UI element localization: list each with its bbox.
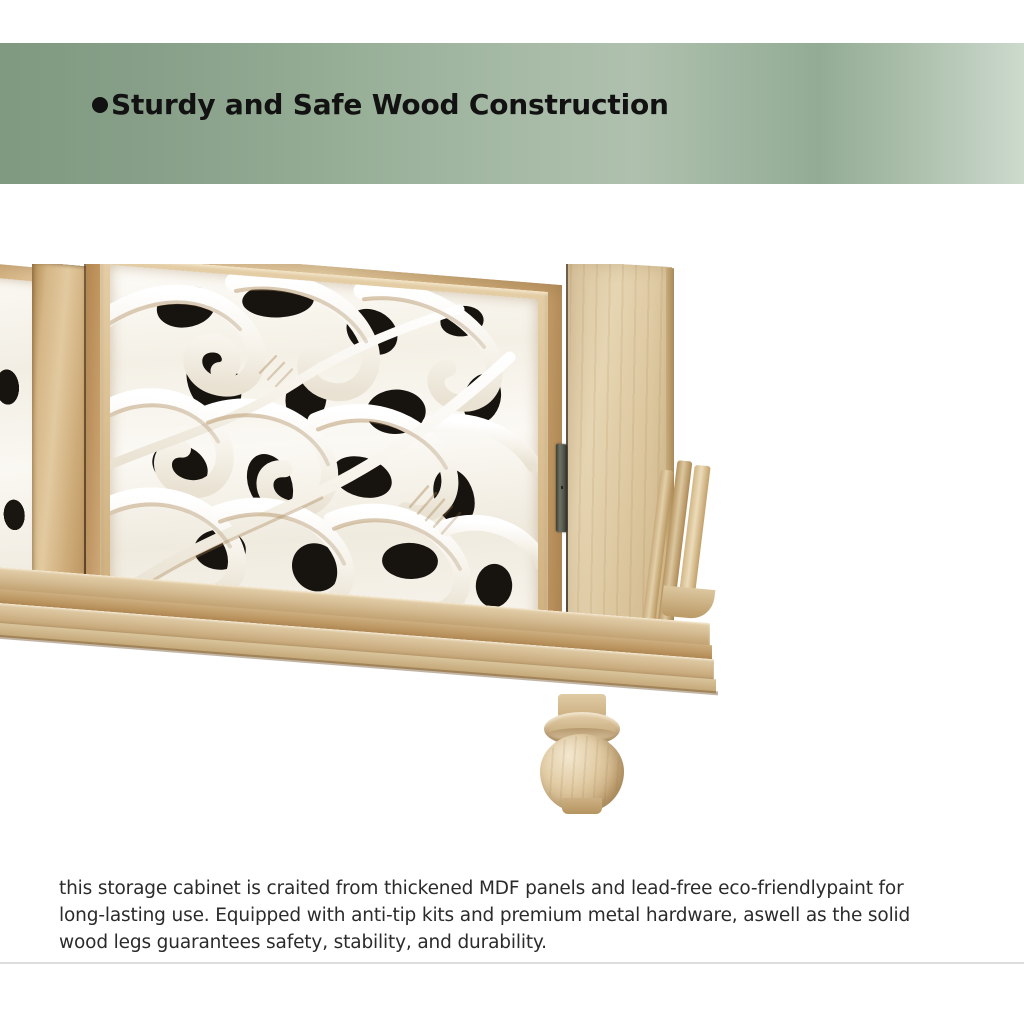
filled-circle-bullet-icon (92, 97, 108, 113)
hinge-pin-detail (561, 486, 563, 489)
section-header-banner: Sturdy and Safe Wood Construction (0, 43, 1024, 184)
cabinet-solid-wood-leg (536, 694, 628, 822)
cabinet-center-stile (32, 264, 88, 618)
product-description-text: this storage cabinet is craited from thi… (59, 875, 921, 956)
leg-foot-pad (562, 798, 602, 814)
cabinet-carved-floral-panel (110, 265, 538, 635)
feature-heading: Sturdy and Safe Wood Construction (92, 91, 669, 119)
feature-heading-text: Sturdy and Safe Wood Construction (111, 91, 669, 119)
floral-carving-illustration (110, 265, 538, 635)
section-divider (0, 962, 1024, 964)
product-photo (0, 264, 775, 824)
